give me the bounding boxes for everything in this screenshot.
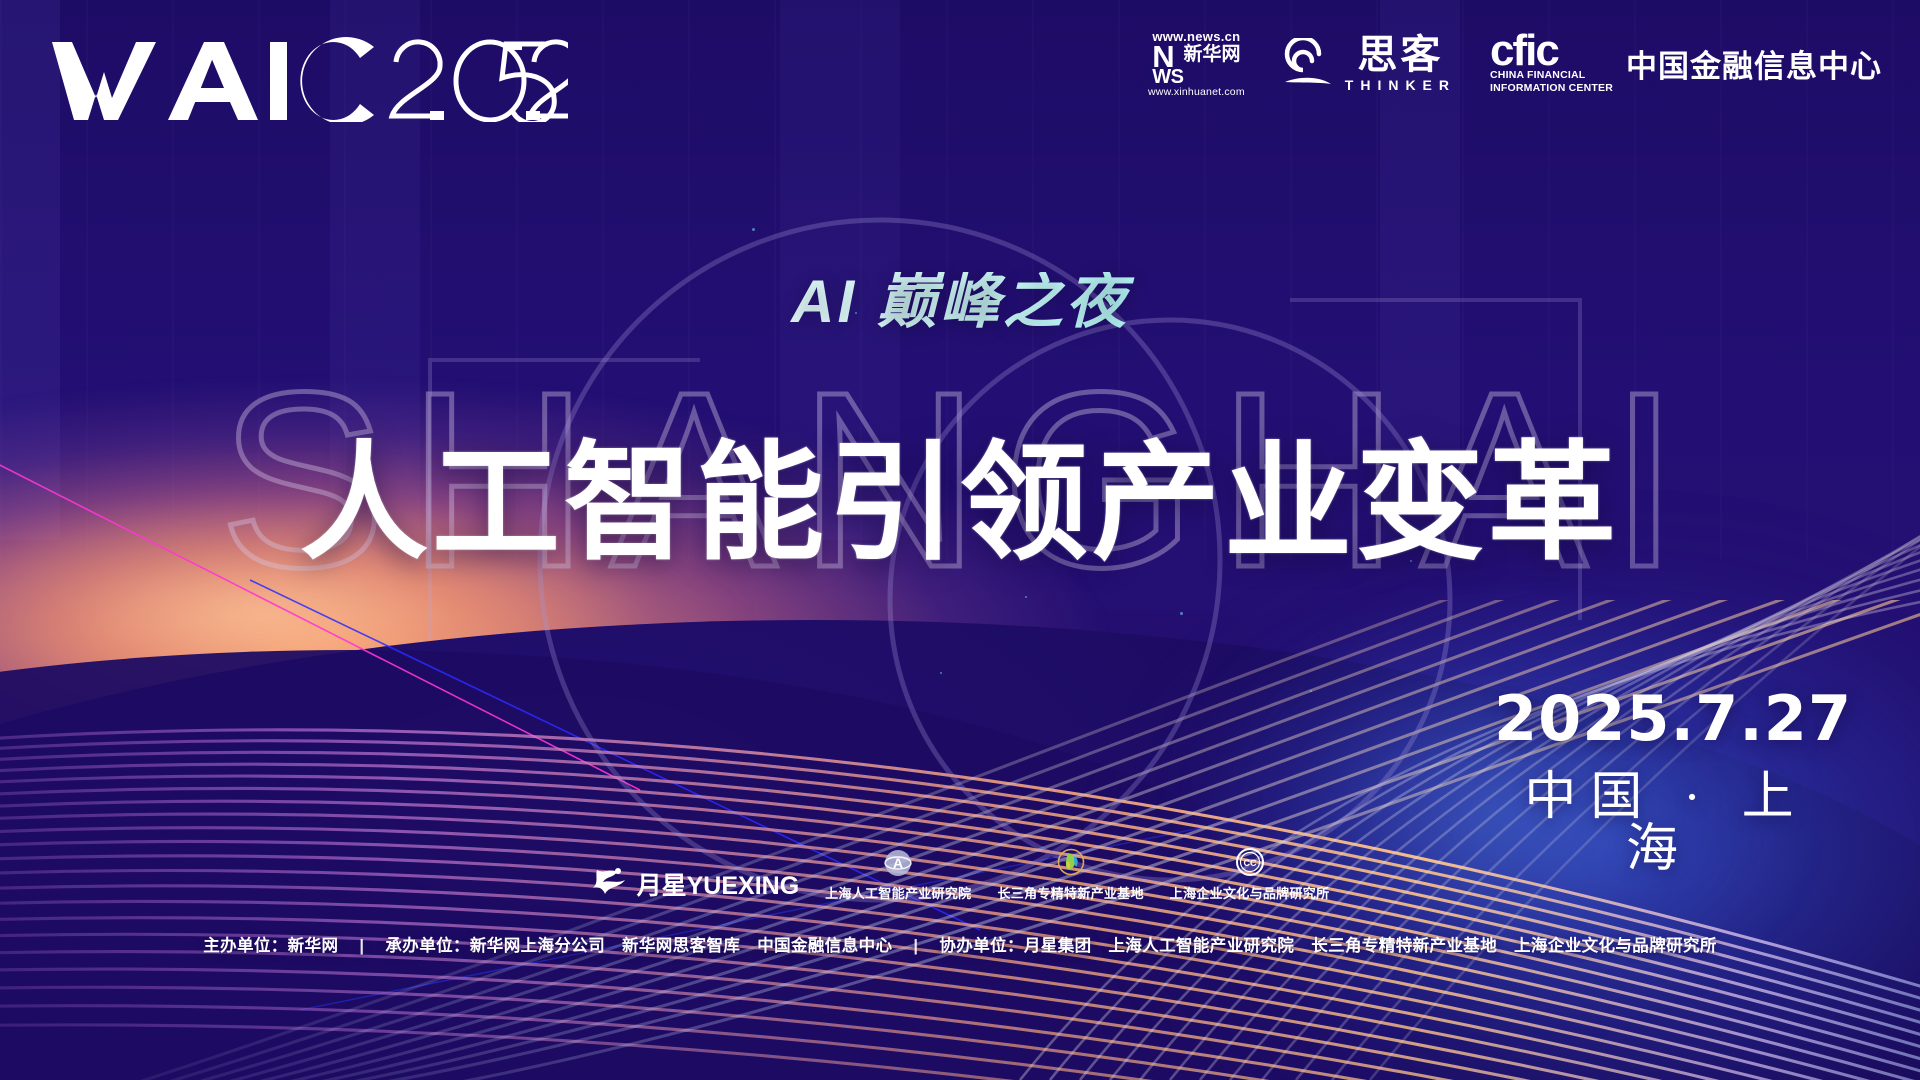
cfic-mark: cfic: [1490, 33, 1613, 69]
cfic-en-line1: CHINA FINANCIAL: [1490, 69, 1613, 82]
sponsor-logo-row: 月星YUEXING A 上海人工智能产业研究院: [0, 846, 1920, 902]
partner-logos: www.news.cn N WS 新华网 www.xinhuanet.com: [1148, 30, 1882, 98]
yuexing-star-icon: [591, 866, 631, 902]
poster-canvas: SHANGHAI: [0, 0, 1920, 1080]
circle-seal-icon: CC: [1234, 847, 1266, 879]
cfic-cn-label: 中国金融信息中心: [1626, 41, 1882, 86]
xinhua-url-bottom: www.xinhuanet.com: [1148, 86, 1245, 98]
event-headline: 人工智能引领产业变革: [0, 440, 1920, 568]
svg-text:CC: CC: [1243, 858, 1256, 868]
sponsor-yuexing-label: 月星YUEXING: [637, 866, 800, 902]
sponsor-yuexing: 月星YUEXING: [591, 866, 800, 902]
coorganiser-label: 承办单位：新华网上海分公司 新华网思客智库 中国金融信息中心: [385, 937, 892, 955]
xinhua-cn-label: 新华网: [1183, 45, 1240, 65]
thinker-en-label: THINKER: [1345, 77, 1456, 93]
thinker-cn-label: 思客: [1357, 35, 1443, 75]
event-date: 2025.7.27: [1494, 688, 1824, 750]
cfic-logo: cfic CHINA FINANCIAL INFORMATION CENTER …: [1490, 33, 1882, 94]
speck: [1180, 612, 1183, 615]
organiser-line: 主办单位：新华网 | 承办单位：新华网上海分公司 新华网思客智库 中国金融信息中…: [0, 932, 1920, 956]
organiser-separator-2: |: [897, 937, 934, 955]
svg-text:A: A: [893, 855, 903, 871]
sponsor-sccb-label: 上海企业文化与品牌研究所: [1170, 883, 1330, 902]
supporter-label: 协办单位：月星集团 上海人工智能产业研究院 长三角专精特新产业基地 上海企业文化…: [939, 937, 1716, 955]
poster-header: www.news.cn N WS 新华网 www.xinhuanet.com: [0, 0, 1920, 128]
sponsor-saii-label: 上海人工智能产业研究院: [825, 883, 971, 902]
sponsor-yrd-base-label: 长三角专精特新产业基地: [997, 883, 1143, 902]
xinhua-news-logo: www.news.cn N WS 新华网 www.xinhuanet.com: [1148, 30, 1245, 98]
yrd-map-icon: [1055, 847, 1087, 879]
cfic-en-line2: INFORMATION CENTER: [1490, 82, 1613, 95]
organiser-separator-1: |: [343, 937, 380, 955]
thinker-logo: 思客 THINKER: [1279, 35, 1456, 93]
waic-2025-logo: [48, 36, 568, 122]
speck: [1025, 596, 1027, 598]
sponsor-yrd-base: 长三角专精特新产业基地: [997, 846, 1143, 902]
host-label: 主办单位：新华网: [203, 937, 338, 955]
event-subtitle: AI 巅峰之夜: [0, 272, 1920, 332]
ai-globe-icon: A: [882, 847, 914, 879]
speck: [940, 672, 942, 674]
speck: [752, 228, 755, 231]
sponsor-sccb: CC 上海企业文化与品牌研究所: [1170, 846, 1330, 902]
thinker-swirl-icon: [1279, 38, 1335, 90]
sponsor-saii: A 上海人工智能产业研究院: [825, 846, 971, 902]
speck: [1310, 690, 1312, 692]
xinhua-letter-ws: WS: [1152, 69, 1183, 85]
